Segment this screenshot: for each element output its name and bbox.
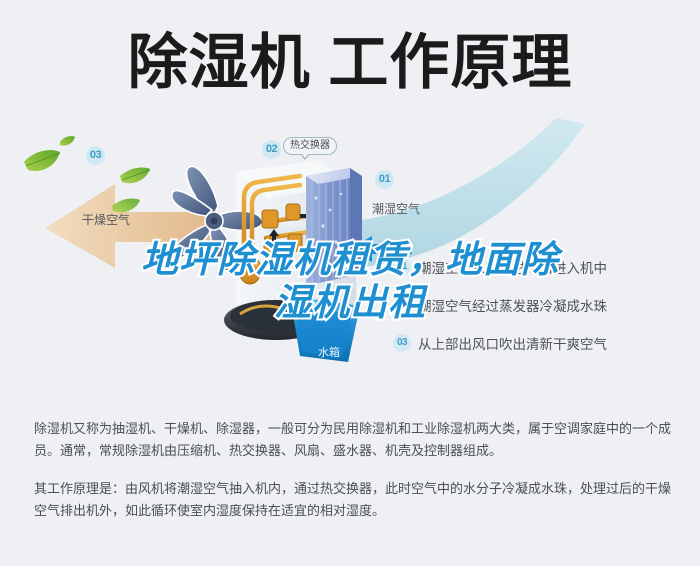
diagram-badge-02: 02 (262, 140, 281, 159)
description-paragraph-2: 其工作原理是：由风机将潮湿空气抽入机内，通过热交换器，此时空气中的水分子冷凝成水… (34, 478, 674, 522)
heat-exchanger-callout: 热交换器 (283, 137, 337, 155)
process-legend: 01 潮湿空气从下部进风口进入机中 02 潮湿空气经过蒸发器冷凝成水珠 03 从… (393, 248, 693, 362)
page-title: 除湿机 工作原理 (0, 26, 700, 100)
dry-air-label: 干燥空气 (82, 211, 130, 228)
diagram-badge-01: 01 (375, 170, 394, 189)
dry-air-arrow-icon (45, 184, 220, 268)
description-paragraph-1: 除湿机又称为抽湿机、干燥机、除湿器，一般可分为民用除湿机和工业除湿机两大类，属于… (34, 418, 674, 462)
legend-text-01: 潮湿空气从下部进风口进入机中 (418, 257, 607, 277)
list-item: 03 从上部出风口吹出清新干爽空气 (393, 324, 693, 362)
diagram-badge-03: 03 (86, 146, 105, 165)
legend-badge-02: 02 (393, 296, 411, 314)
page-title-text: 除湿机 工作原理 (128, 26, 573, 100)
humid-air-label: 潮湿空气 (372, 200, 420, 217)
infographic-page: 除湿机 工作原理 (0, 0, 700, 566)
legend-badge-01: 01 (393, 258, 411, 276)
description-block: 除湿机又称为抽湿机、干燥机、除湿器，一般可分为民用除湿机和工业除湿机两大类，属于… (34, 418, 674, 522)
water-tank-label: 水箱 (318, 344, 340, 360)
heat-exchanger-icon (306, 168, 362, 286)
legend-text-03: 从上部出风口吹出清新干爽空气 (418, 333, 607, 353)
legend-badge-03: 03 (393, 334, 411, 352)
legend-text-02: 潮湿空气经过蒸发器冷凝成水珠 (418, 295, 607, 315)
list-item: 02 潮湿空气经过蒸发器冷凝成水珠 (393, 286, 693, 324)
list-item: 01 潮湿空气从下部进风口进入机中 (393, 248, 693, 286)
